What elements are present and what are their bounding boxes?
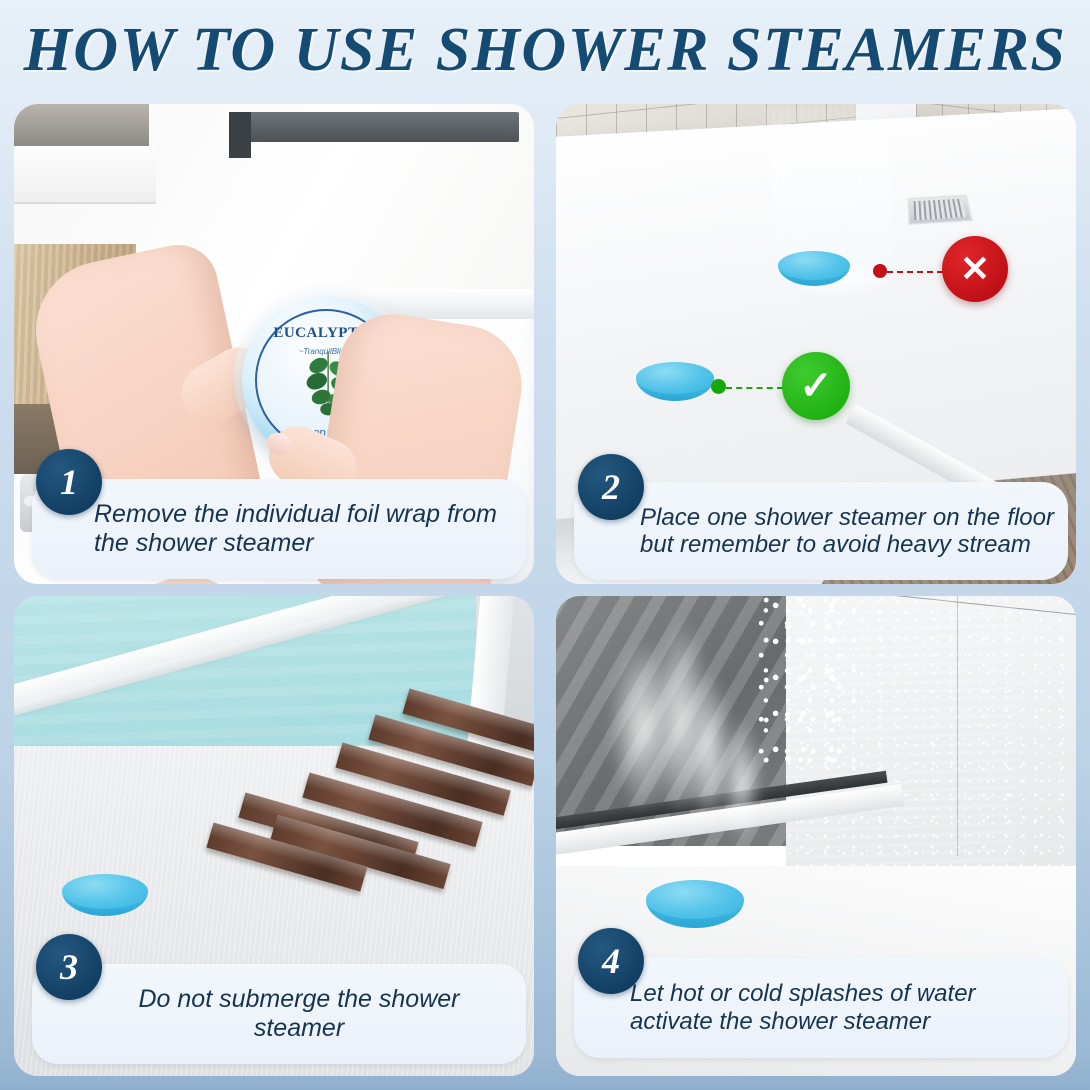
- cross-icon: ✕: [942, 236, 1008, 302]
- steamer-puck-on-floor: [62, 874, 148, 922]
- check-connector-line: [726, 387, 783, 389]
- cross-connector-line: [887, 271, 943, 273]
- step-panel-3[interactable]: 3 Do not submerge the shower steamer: [14, 596, 534, 1076]
- check-connector-dot: [711, 379, 726, 394]
- step-panel-4[interactable]: 4 Let hot or cold splashes of water acti…: [556, 596, 1076, 1076]
- step-caption-box-3: Do not submerge the shower steamer: [32, 964, 526, 1064]
- step-panel-2[interactable]: ✕ ✓ 2 Place one shower steamer on the fl…: [556, 104, 1076, 584]
- steps-grid: EUCALYPTUS ~TranquilBliss~ Keep calm rel…: [14, 104, 1076, 1076]
- step-number-badge-3: 3: [36, 934, 102, 1000]
- step-caption-text-4: Let hot or cold splashes of water activa…: [630, 980, 1058, 1036]
- check-icon: ✓: [782, 352, 850, 420]
- dark-shelf-bracket: [229, 112, 251, 158]
- step-panel-1[interactable]: EUCALYPTUS ~TranquilBliss~ Keep calm rel…: [14, 104, 534, 584]
- step-caption-box-2: Place one shower steamer on the floor bu…: [574, 482, 1068, 580]
- step-caption-box-4: Let hot or cold splashes of water activa…: [574, 958, 1068, 1058]
- step-number-badge-4: 4: [578, 928, 644, 994]
- step-number-badge-1: 1: [36, 449, 102, 515]
- header-bar: HOW TO USE SHOWER STEAMERS: [0, 0, 1090, 100]
- steamer-puck-activating: [646, 880, 744, 934]
- upper-shelf-white: [14, 146, 156, 204]
- step-caption-text-3: Do not submerge the shower steamer: [94, 985, 504, 1043]
- cross-connector-dot: [873, 264, 887, 278]
- steam-wisp: [721, 716, 761, 846]
- steamer-puck-correct: [636, 362, 714, 406]
- page-title: HOW TO USE SHOWER STEAMERS: [24, 15, 1067, 86]
- upper-shelf-grey: [14, 104, 149, 146]
- step-caption-box-1: Remove the individual foil wrap from the…: [32, 479, 526, 579]
- step-caption-text-2: Place one shower steamer on the floor bu…: [640, 504, 1054, 558]
- floor-drain-grate: [908, 195, 973, 225]
- step-caption-text-1: Remove the individual foil wrap from the…: [94, 500, 504, 558]
- dark-shelf-bar: [229, 112, 519, 142]
- step-number-badge-2: 2: [578, 454, 644, 520]
- steamer-puck-under-stream: [778, 251, 850, 291]
